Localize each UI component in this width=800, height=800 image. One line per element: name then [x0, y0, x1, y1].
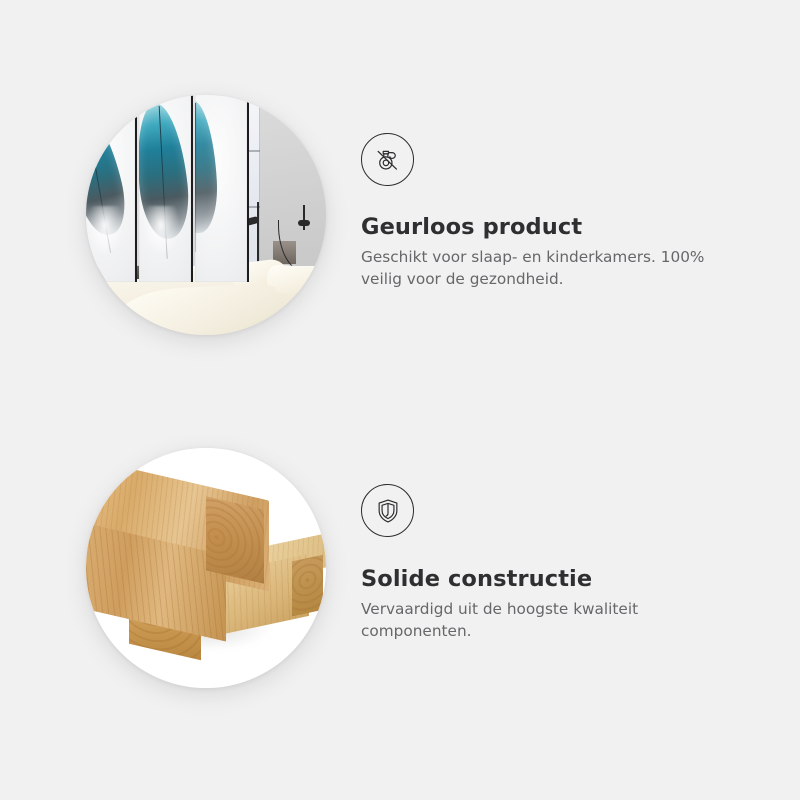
feature-image-odourless [86, 95, 326, 335]
feature-description: Geschikt voor slaap- en kinderkamers. 10… [361, 247, 746, 290]
feather-wisp [87, 206, 132, 270]
feature-title: Geurloos product [361, 214, 761, 240]
feather-wisp [143, 206, 188, 270]
wall-lamp-head [298, 220, 310, 226]
wood-plank-end [292, 555, 323, 617]
feature-block-solid-construction: Solide constructie Vervaardigd uit de ho… [0, 448, 800, 698]
wood-scene [86, 448, 326, 688]
feature-title: Solide constructie [361, 566, 761, 592]
feature-block-odourless: Geurloos product Geschikt voor slaap- en… [0, 95, 800, 345]
feature-panel: Geurloos product Geschikt voor slaap- en… [0, 0, 800, 800]
feature-image-solid-construction [86, 448, 326, 688]
shield-icon [361, 484, 414, 537]
canvas-triptych [86, 95, 252, 282]
no-fragrance-icon [361, 133, 414, 186]
feature-content-solid-construction: Solide constructie Vervaardigd uit de ho… [361, 484, 761, 642]
bedroom-scene [86, 95, 326, 335]
wood-beam-endgrain [206, 497, 264, 585]
feather-wall-art-bedroom-photo [86, 95, 326, 335]
wall-lamp-stem [303, 205, 304, 231]
feature-content-odourless: Geurloos product Geschikt voor slaap- en… [361, 133, 761, 290]
floor-lamp-stem [257, 202, 258, 269]
wooden-blocks-photo [86, 448, 326, 688]
canvas-panel [195, 95, 247, 282]
feather [195, 99, 219, 234]
canvas-panel [86, 95, 135, 282]
canvas-panel [139, 95, 191, 282]
feature-description: Vervaardigd uit de hoogste kwaliteit com… [361, 599, 746, 642]
